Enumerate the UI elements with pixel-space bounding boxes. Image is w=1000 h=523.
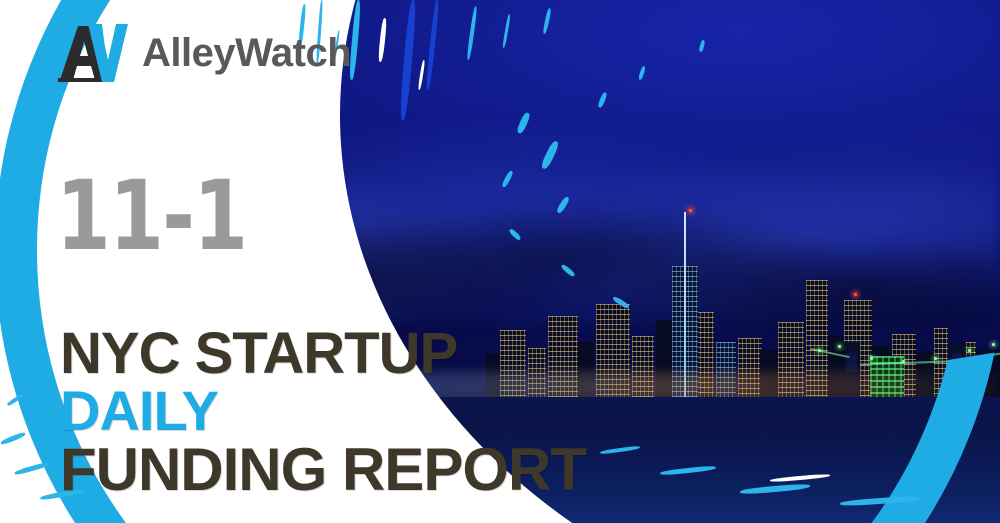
aw-monogram-icon (58, 22, 132, 84)
headline-block: NYC STARTUP DAILY FUNDING REPORT (60, 326, 586, 500)
alleywatch-logo[interactable]: AlleyWatch (58, 18, 351, 88)
issue-date: 11-1 (56, 168, 246, 264)
headline-line-3: FUNDING REPORT (60, 441, 586, 500)
headline-line-2: DAILY (60, 384, 586, 439)
poster-canvas: AlleyWatch 11-1 NYC STARTUP DAILY FUNDIN… (0, 0, 1000, 523)
alleywatch-wordmark: AlleyWatch (142, 33, 351, 73)
headline-line-1: NYC STARTUP (60, 326, 586, 383)
